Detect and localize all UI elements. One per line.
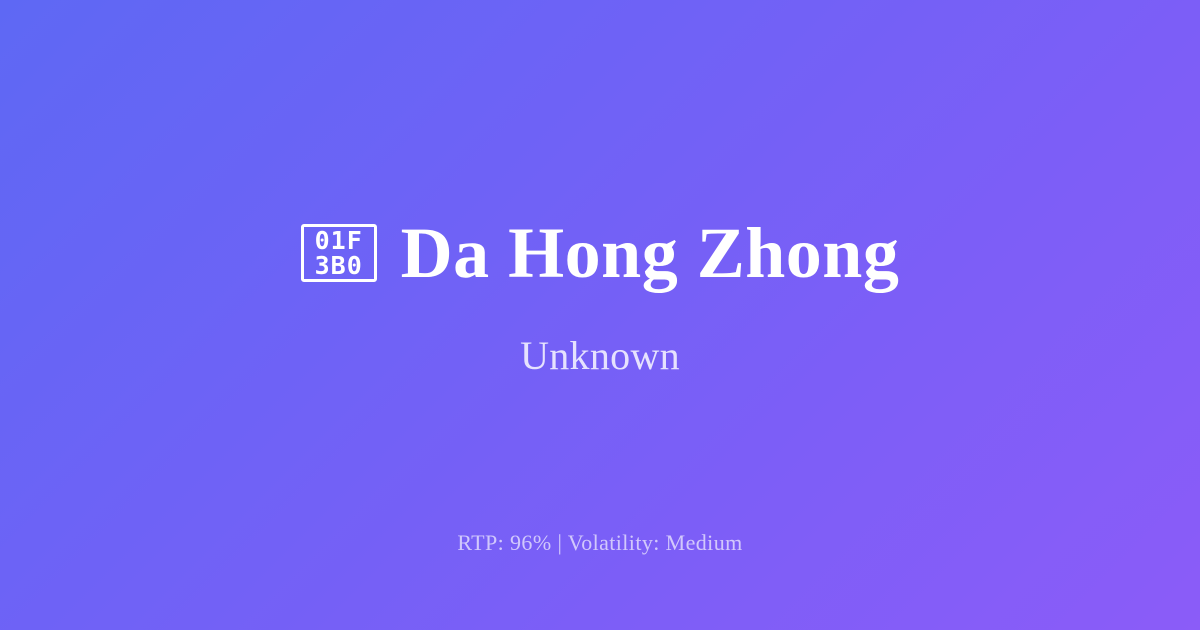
game-preview-card: 01F 3B0 Da Hong Zhong Unknown RTP: 96% |…: [0, 0, 1200, 630]
codepoint-upper: 01F: [315, 228, 363, 253]
card-subtitle: Unknown: [520, 332, 680, 380]
slot-machine-icon: 01F 3B0: [301, 224, 377, 282]
page-title: Da Hong Zhong: [401, 216, 900, 291]
card-footer-stats: RTP: 96% | Volatility: Medium: [0, 529, 1200, 558]
codepoint-lower: 3B0: [315, 253, 363, 278]
headline-row: 01F 3B0 Da Hong Zhong: [301, 216, 900, 291]
